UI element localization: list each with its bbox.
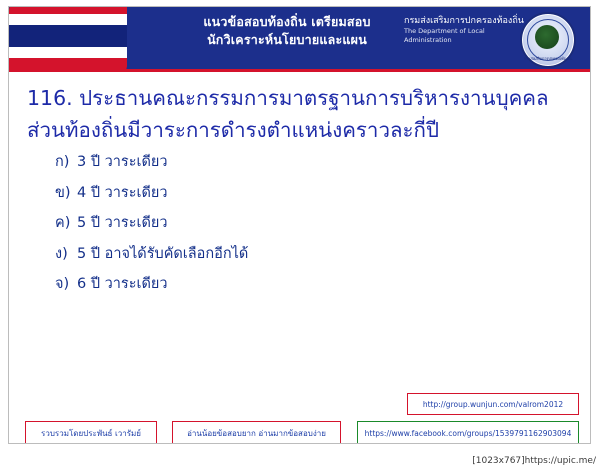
choice-text: 4 ปี วาระเดียว	[77, 186, 575, 201]
slide: แนวข้อสอบท้องถิ่น เตรียมสอบ นักวิเคราะห์…	[8, 6, 591, 444]
dla-emblem-icon: กรมส่งเสริมการปกครองท้องถิ่น	[520, 12, 576, 68]
choice-label: ก)	[55, 155, 77, 170]
choice-item[interactable]: ข) 4 ปี วาระเดียว	[55, 186, 575, 201]
header-title: แนวข้อสอบท้องถิ่น เตรียมสอบ นักวิเคราะห์…	[127, 13, 447, 49]
organization-name-th: กรมส่งเสริมการปกครองท้องถิ่น	[404, 15, 524, 27]
choice-text: 3 ปี วาระเดียว	[77, 155, 575, 170]
group-link-box[interactable]: http://group.wunjun.com/valrom2012	[407, 393, 579, 415]
thai-flag-graphic	[9, 7, 127, 69]
header-rule	[9, 69, 590, 72]
choice-label: ข)	[55, 186, 77, 201]
emblem-caption: กรมส่งเสริมการปกครองท้องถิ่น	[522, 55, 574, 62]
organization-label: กรมส่งเสริมการปกครองท้องถิ่น The Departm…	[404, 15, 524, 45]
choice-label: ง)	[55, 247, 77, 262]
image-watermark: [1023x767]https://upic.me/	[472, 456, 596, 466]
choice-label: ค)	[55, 216, 77, 231]
choice-item[interactable]: ก) 3 ปี วาระเดียว	[55, 155, 575, 170]
slide-header: แนวข้อสอบท้องถิ่น เตรียมสอบ นักวิเคราะห์…	[9, 7, 590, 69]
choice-item[interactable]: จ) 6 ปี วาระเดียว	[55, 277, 575, 292]
choice-item[interactable]: ค) 5 ปี วาระเดียว	[55, 216, 575, 231]
credit-box: รวบรวมโดยประพันธ์ เวารัมย์	[25, 421, 157, 444]
header-title-line1: แนวข้อสอบท้องถิ่น เตรียมสอบ	[127, 13, 447, 31]
slogan-box: อ่านน้อยข้อสอบยาก อ่านมากข้อสอบง่าย	[172, 421, 341, 444]
flag-stripes	[9, 7, 127, 69]
emblem-core	[535, 25, 559, 49]
choice-label: จ)	[55, 277, 77, 292]
choice-text: 6 ปี วาระเดียว	[77, 277, 575, 292]
header-title-line2: นักวิเคราะห์นโยบายและแผน	[127, 31, 447, 49]
organization-name-en: The Department of Local Administration	[404, 27, 524, 45]
facebook-link-box[interactable]: https://www.facebook.com/groups/15397911…	[357, 421, 579, 444]
choice-item[interactable]: ง) 5 ปี อาจได้รับคัดเลือกอีกได้	[55, 247, 575, 262]
choice-text: 5 ปี อาจได้รับคัดเลือกอีกได้	[77, 247, 575, 262]
question-text: 116. ประธานคณะกรรมการมาตรฐานการบริหารงาน…	[27, 83, 575, 147]
choice-list: ก) 3 ปี วาระเดียว ข) 4 ปี วาระเดียว ค) 5…	[55, 155, 575, 308]
choice-text: 5 ปี วาระเดียว	[77, 216, 575, 231]
